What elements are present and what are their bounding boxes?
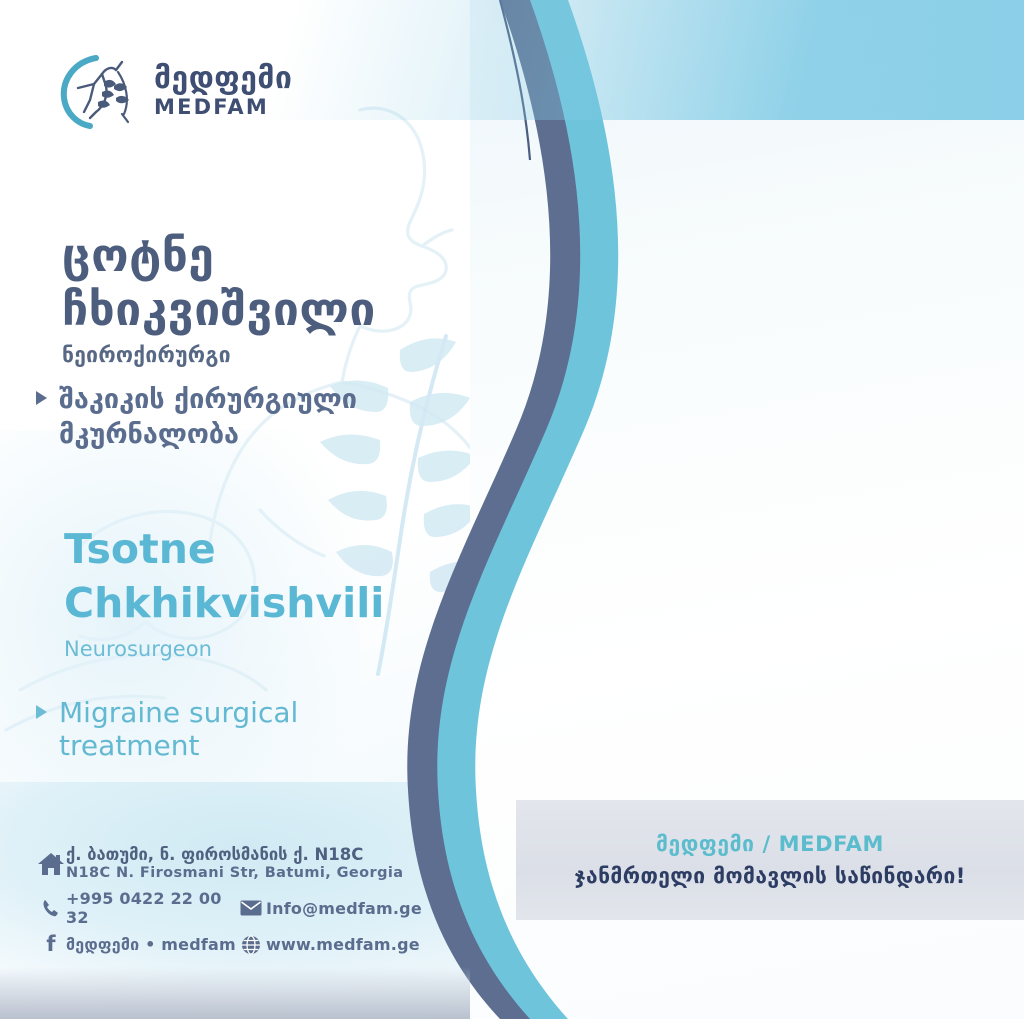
phone-icon <box>36 898 66 918</box>
contact-address-row: ქ. ბათუმი, ნ. ფიროსმანის ქ. N18C N18C N.… <box>36 846 456 882</box>
doctor-name-ka: ცოტნე ჩხიკვიშვილი <box>62 228 482 337</box>
contact-social-web-row: f მედფემი • medfam www.medfam.ge <box>36 934 456 955</box>
contact-address-ka: ქ. ბათუმი, ნ. ფიროსმანის ქ. N18C <box>66 846 403 865</box>
tagline-overlay: მედფემი / MEDFAM ჯანმრთელი მომავლის საწი… <box>516 800 1024 920</box>
tagline-brand: მედფემი / MEDFAM <box>656 832 884 856</box>
contact-address-en: N18C N. Firosmani Str, Batumi, Georgia <box>66 865 403 882</box>
doctor-name-en-line1: Tsotne <box>64 522 484 576</box>
triangle-bullet-icon <box>36 391 47 405</box>
contact-email: Info@medfam.ge <box>266 899 422 918</box>
brand-logo[interactable]: მედფემი MEDFAM <box>60 52 292 130</box>
doctor-name-en-line2: Chkhikvishvili <box>64 576 484 630</box>
doctor-role-ka: ნეიროქირურგი <box>62 343 482 367</box>
contact-phone-group[interactable]: +995 0422 22 00 32 <box>36 889 236 927</box>
contact-email-group[interactable]: Info@medfam.ge <box>236 899 422 918</box>
logo-wordmark: მედფემი MEDFAM <box>154 64 292 118</box>
envelope-icon <box>236 900 266 916</box>
tagline-slogan: ჯანმრთელი მომავლის საწინდარი! <box>574 864 965 888</box>
contact-footer: ქ. ბათუმი, ნ. ფიროსმანის ქ. N18C N18C N.… <box>36 846 456 962</box>
contact-phone: +995 0422 22 00 32 <box>66 889 236 927</box>
service-en-block: Migraine surgical treatment <box>36 696 376 763</box>
globe-icon <box>236 935 266 955</box>
bottom-gray-strip <box>0 967 470 1019</box>
contact-address-group: ქ. ბათუმი, ნ. ფიროსმანის ქ. N18C N18C N.… <box>66 846 403 882</box>
medfam-stork-logo-icon <box>60 52 140 130</box>
doctor-name-en-block: Tsotne Chkhikvishvili Neurosurgeon <box>64 522 484 661</box>
contact-website-group[interactable]: www.medfam.ge <box>236 935 420 955</box>
triangle-bullet-icon-teal <box>36 705 47 719</box>
logo-name-en: MEDFAM <box>154 97 292 118</box>
service-ka-text: შაკიკის ქირურგიული მკურნალობა <box>59 382 456 452</box>
facebook-f-icon: f <box>36 934 66 955</box>
doctor-name-ka-block: ცოტნე ჩხიკვიშვილი ნეიროქირურგი <box>62 228 482 367</box>
contact-website: www.medfam.ge <box>266 935 420 954</box>
home-icon <box>36 851 66 877</box>
doctor-role-en: Neurosurgeon <box>64 637 484 661</box>
contact-facebook: მედფემი • medfam <box>66 935 236 954</box>
service-ka-block: შაკიკის ქირურგიული მკურნალობა <box>36 382 456 452</box>
contact-phone-email-row: +995 0422 22 00 32 Info@medfam.ge <box>36 889 456 927</box>
contact-facebook-group[interactable]: f მედფემი • medfam <box>36 934 236 955</box>
service-en-text: Migraine surgical treatment <box>59 696 376 763</box>
poster-root: + <box>0 0 1024 1019</box>
logo-name-ka: მედფემი <box>154 64 292 94</box>
